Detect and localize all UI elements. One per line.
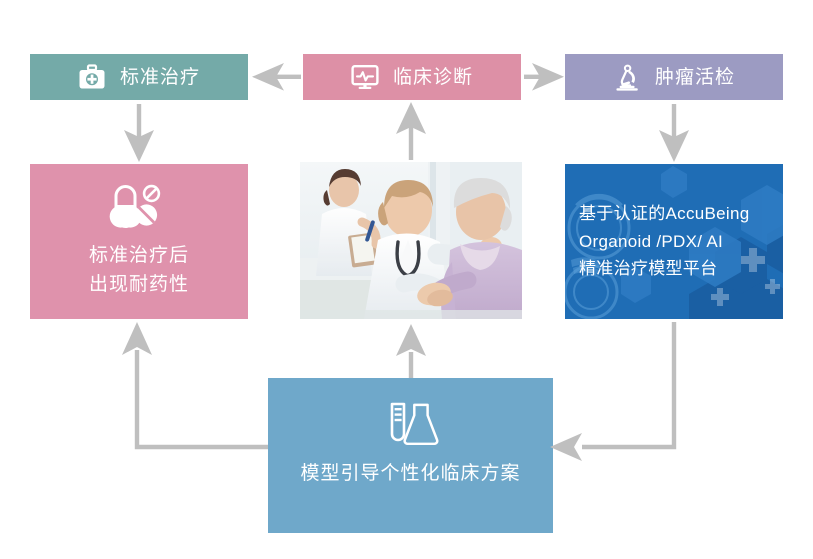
connector-diagnosis-to-standard-care (252, 63, 301, 91)
connector-standard-care-to-resistance (124, 104, 154, 162)
arrowhead-left-elbow (550, 433, 582, 461)
connector-diagnosis-to-biopsy (524, 63, 564, 91)
node-label-line2: Organoid /PDX/ AI (579, 228, 769, 256)
connector-biopsy-to-platform (659, 104, 689, 162)
node-label: 基于认证的AccuBeing Organoid /PDX/ AI 精准治疗模型平… (565, 164, 783, 319)
workflow-diagram: 标准治疗 临床诊断 肿瘤活检 (0, 0, 813, 559)
connector-photo-to-diagnosis (396, 102, 426, 160)
node-label-line3: 精准治疗模型平台 (579, 255, 769, 283)
node-platform[interactable]: 基于认证的AccuBeing Organoid /PDX/ AI 精准治疗模型平… (565, 164, 783, 319)
node-label-line1: 基于认证的AccuBeing (579, 200, 769, 228)
connector-platform-to-model-plan (582, 322, 674, 447)
connector-model-plan-to-resistance (137, 350, 268, 447)
connector-model-plan-to-photo (396, 324, 426, 378)
